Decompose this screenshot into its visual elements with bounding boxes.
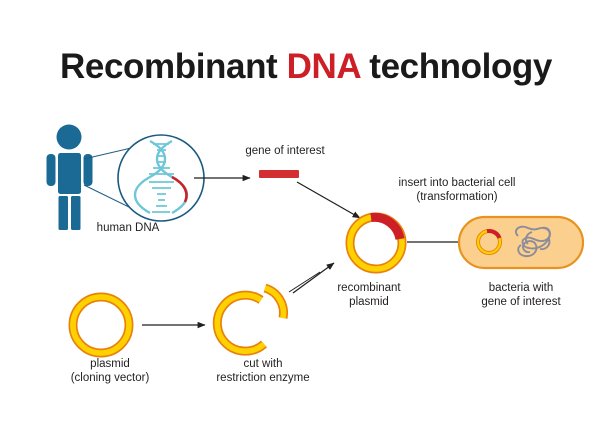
plasmid-ring-icon <box>73 297 129 353</box>
cut-plasmid-icon <box>217 288 283 351</box>
dna-helix-icon <box>118 135 204 221</box>
arrow-gene-to-recombinant <box>297 182 360 218</box>
label-cut-with-enzyme: cut with restriction enzyme <box>192 357 334 385</box>
label-human-dna: human DNA <box>68 221 188 235</box>
human-figure-icon <box>47 125 93 231</box>
label-insert-transformation: insert into bacterial cell (transformati… <box>371 176 543 204</box>
label-plasmid: plasmid (cloning vector) <box>50 357 170 385</box>
bacteria-cell-icon <box>459 217 583 268</box>
diagram-canvas: Recombinant DNA technology <box>0 0 612 433</box>
label-gene-of-interest: gene of interest <box>210 144 360 158</box>
recombinant-plasmid-icon <box>350 217 402 269</box>
label-bacteria-with-gene: bacteria with gene of interest <box>456 281 586 309</box>
label-recombinant-plasmid: recombinant plasmid <box>313 281 425 309</box>
gene-segment-icon <box>259 170 299 178</box>
